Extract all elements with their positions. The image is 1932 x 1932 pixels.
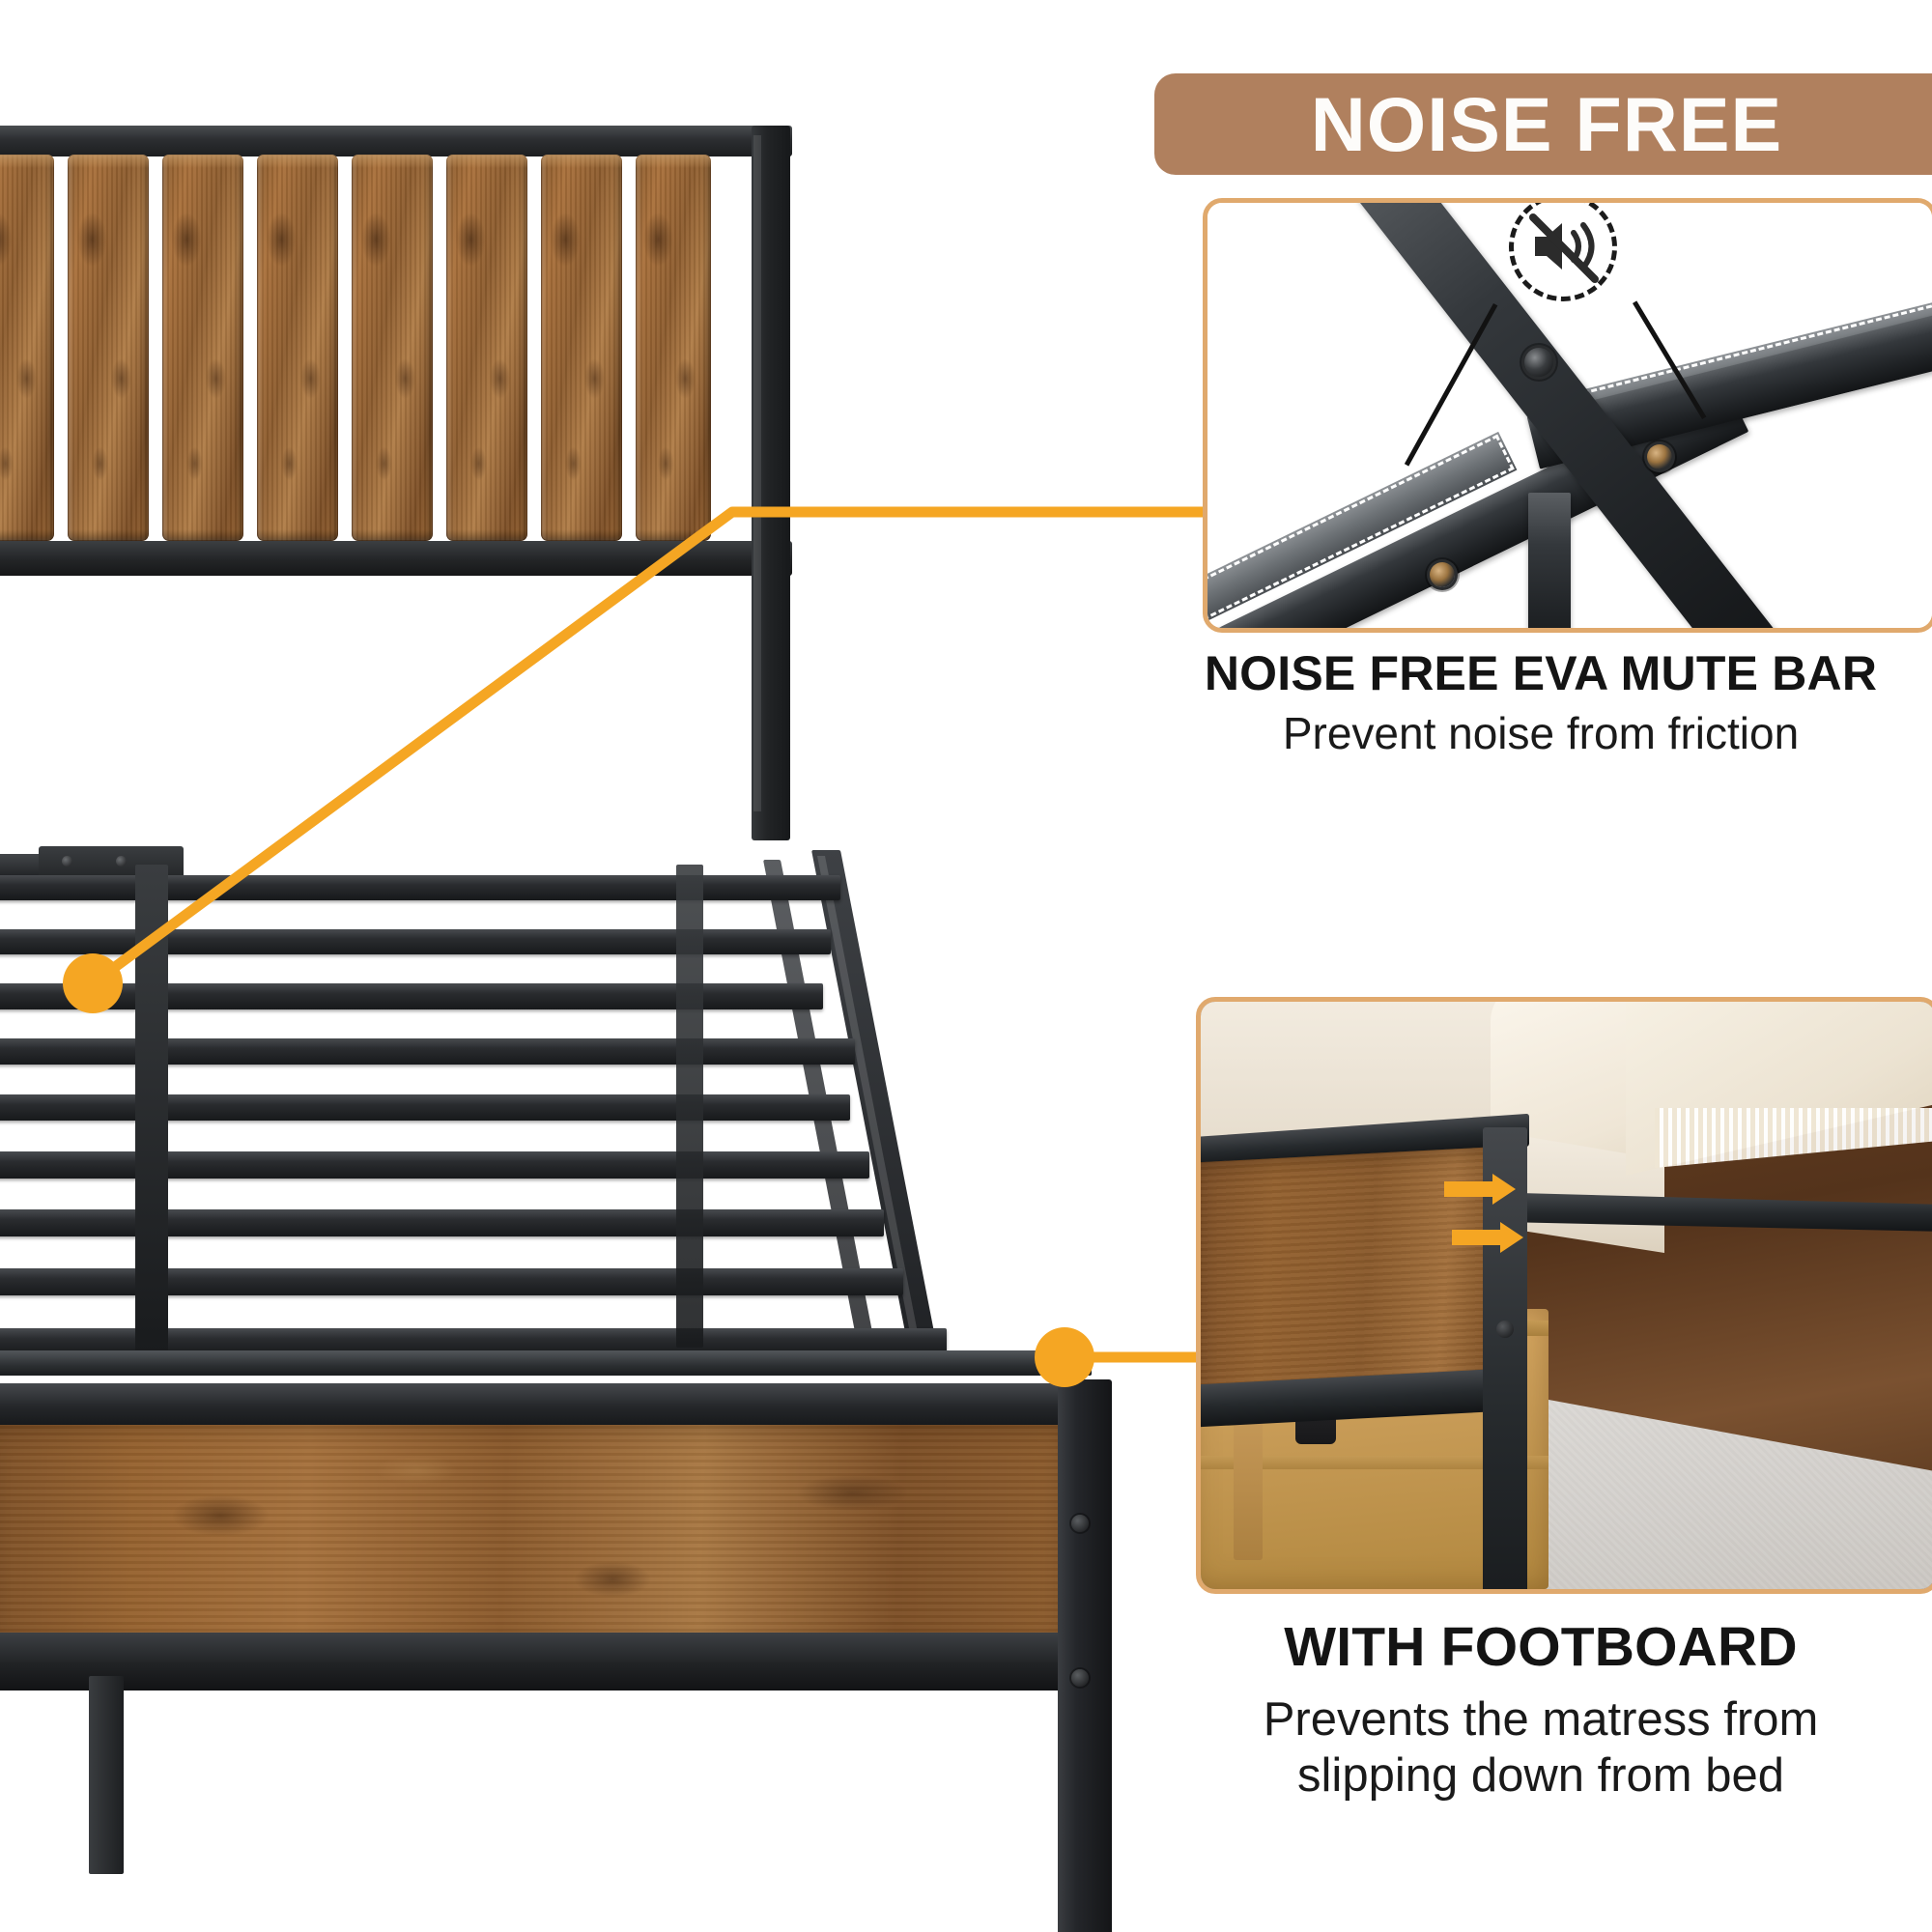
product-photo	[0, 0, 1159, 1932]
headboard-slat	[352, 155, 433, 541]
trunk-strap	[1234, 1406, 1263, 1560]
noise-free-banner: NOISE FREE	[1154, 73, 1932, 175]
bracket-screw	[62, 856, 72, 867]
headboard-bottom-rail	[0, 541, 792, 576]
footboard-screw	[1071, 1515, 1089, 1532]
headboard-slat	[162, 155, 243, 541]
headboard-slat	[636, 155, 711, 541]
arrow-right-icon	[1444, 1174, 1516, 1205]
screw-brass	[1647, 444, 1672, 469]
platform-slat	[0, 1151, 869, 1179]
center-support-leg	[89, 1676, 124, 1874]
headboard-slat	[446, 155, 527, 541]
headboard-slat	[68, 155, 149, 541]
footboard-wood-panel	[0, 1425, 1070, 1652]
platform-slat	[0, 875, 840, 900]
feature-panel: NOISE FREE	[1150, 0, 1932, 1932]
headboard-slat	[0, 155, 54, 541]
caption-subtitle-line2: slipping down from bed	[1150, 1748, 1932, 1804]
headboard-slat	[257, 155, 338, 541]
platform-slat	[0, 1038, 855, 1065]
direction-arrows	[1442, 1174, 1568, 1299]
caption-title-mute-bar: NOISE FREE EVA MUTE BAR	[1150, 645, 1932, 701]
footboard-screw	[1071, 1669, 1089, 1687]
footboard-bottom-rail	[0, 1633, 1082, 1690]
inset-with-footboard	[1196, 997, 1932, 1594]
headboard-post-highlight	[753, 135, 761, 811]
banner-label: NOISE FREE	[1311, 86, 1782, 162]
footboard-top-rail	[0, 1383, 1082, 1430]
headboard-slat	[541, 155, 622, 541]
mute-speaker-icon	[1514, 198, 1610, 295]
bracket-screw	[116, 856, 127, 867]
platform-slat	[0, 929, 831, 954]
caption-subtitle-line1: Prevents the matress from	[1150, 1692, 1932, 1748]
footboard-post	[1058, 1379, 1112, 1932]
platform-connector	[135, 865, 168, 1352]
inset-eva-mute-bar	[1203, 198, 1932, 633]
support-leg	[1528, 493, 1571, 633]
headboard-top-rail	[0, 126, 792, 156]
platform-slat	[0, 1094, 850, 1121]
platform-slat	[0, 1209, 884, 1236]
caption-subtitle-footboard: Prevents the matress from slipping down …	[1150, 1692, 1932, 1804]
footboard-post-screw	[1496, 1321, 1514, 1338]
platform-connector	[676, 865, 703, 1348]
mute-icon-badge	[1509, 198, 1617, 301]
caption-subtitle-mute-bar: Prevent noise from friction	[1150, 707, 1932, 759]
infographic-page: NOISE FREE	[0, 0, 1932, 1932]
caption-title-footboard: WITH FOOTBOARD	[1150, 1615, 1932, 1679]
screw-brass	[1430, 562, 1455, 587]
screw	[1524, 348, 1553, 377]
footboard-upper-rail	[0, 1350, 1092, 1376]
arrow-right-icon	[1452, 1222, 1523, 1253]
